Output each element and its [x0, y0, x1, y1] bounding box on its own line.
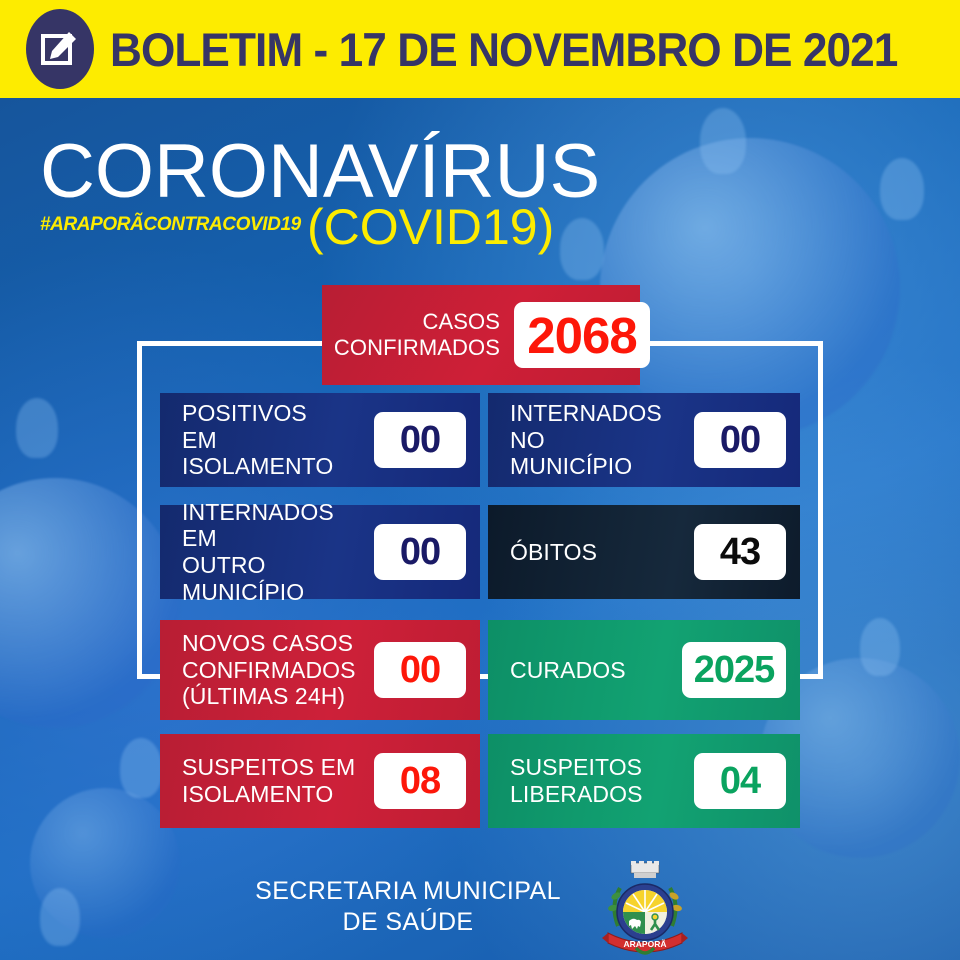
page-title: BOLETIM - 17 DE NOVEMBRO DE 2021 — [110, 22, 897, 77]
stat-label: NOVOS CASOS CONFIRMADOS (ÚLTIMAS 24H) — [182, 630, 374, 710]
crest-banner-text: ARAPORÃ — [624, 939, 667, 949]
stat-card-curados: CURADOS 2025 — [488, 620, 800, 720]
edit-document-icon — [26, 9, 94, 89]
covid-bulletin-poster: BOLETIM - 17 DE NOVEMBRO DE 2021 CORONAV… — [0, 0, 960, 960]
footer: SECRETARIA MUNICIPAL DE SAÚDE — [0, 860, 960, 960]
stat-card-suspeitos-liberados: SUSPEITOS LIBERADOS 04 — [488, 734, 800, 828]
stats-grid: CASOS CONFIRMADOS 2068 POSITIVOS EM ISOL… — [0, 0, 960, 960]
stat-label: ÓBITOS — [510, 539, 694, 566]
stat-value-badge: 04 — [694, 753, 786, 809]
stat-label: SUSPEITOS EM ISOLAMENTO — [182, 754, 374, 807]
stat-label: SUSPEITOS LIBERADOS — [510, 754, 694, 807]
stat-label: CURADOS — [510, 657, 682, 684]
stat-value-badge: 00 — [374, 524, 466, 580]
stat-value-badge: 00 — [374, 642, 466, 698]
stat-card-positivos-em-isolamento: POSITIVOS EM ISOLAMENTO 00 — [160, 393, 480, 487]
stat-card-obitos: ÓBITOS 43 — [488, 505, 800, 599]
stat-card-suspeitos-em-isolamento: SUSPEITOS EM ISOLAMENTO 08 — [160, 734, 480, 828]
stat-value-badge: 2068 — [514, 302, 650, 368]
stat-label: INTERNADOS NO MUNICÍPIO — [510, 400, 694, 480]
stat-value-badge: 43 — [694, 524, 786, 580]
stat-card-internados-no-municipio: INTERNADOS NO MUNICÍPIO 00 — [488, 393, 800, 487]
footer-department-label: SECRETARIA MUNICIPAL DE SAÚDE — [238, 876, 578, 939]
stat-label: INTERNADOS EM OUTRO MUNICÍPIO — [182, 499, 374, 606]
stat-value-badge: 00 — [694, 412, 786, 468]
municipal-coat-of-arms-icon: ARAPORÃ — [600, 860, 690, 960]
stat-value-badge: 2025 — [682, 642, 786, 698]
stat-card-internados-outro-municipio: INTERNADOS EM OUTRO MUNICÍPIO 00 — [160, 505, 480, 599]
stat-card-novos-casos-24h: NOVOS CASOS CONFIRMADOS (ÚLTIMAS 24H) 00 — [160, 620, 480, 720]
header-banner: BOLETIM - 17 DE NOVEMBRO DE 2021 — [0, 0, 960, 98]
stat-value-badge: 08 — [374, 753, 466, 809]
stat-label: POSITIVOS EM ISOLAMENTO — [182, 400, 374, 480]
stat-label: CASOS CONFIRMADOS — [334, 309, 500, 362]
stat-value-badge: 00 — [374, 412, 466, 468]
stat-card-confirmed-cases: CASOS CONFIRMADOS 2068 — [322, 285, 640, 385]
